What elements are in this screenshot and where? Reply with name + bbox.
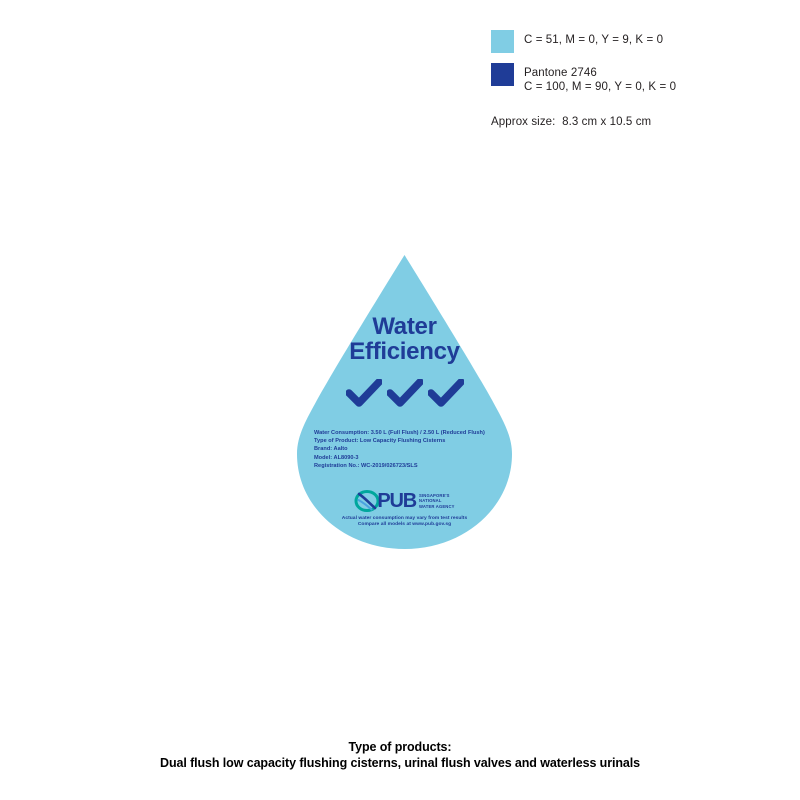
disclaimer-line2: Compare all models at www.pub.gov.sg (296, 522, 513, 528)
checkmark-icon-3 (428, 379, 464, 407)
label-heading: Water Efficiency (296, 314, 513, 364)
colour-legend: C = 51, M = 0, Y = 9, K = 0 Pantone 2746… (491, 30, 781, 104)
label-heading-line1: Water (372, 313, 436, 340)
legend-row-light-blue: C = 51, M = 0, Y = 9, K = 0 (491, 30, 781, 53)
dark-blue-swatch (491, 63, 514, 86)
info-line-water-consumption: Water Consumption: 3.50 L (Full Flush) /… (314, 429, 499, 437)
pub-tagline: SINGAPORE'S NATIONAL WATER AGENCY (419, 493, 455, 508)
dark-blue-cmyk-value: C = 100, M = 90, Y = 0, K = 0 (524, 80, 676, 94)
dark-blue-pantone-name: Pantone 2746 (524, 66, 676, 80)
approx-size-text: Approx size: 8.3 cm x 10.5 cm (491, 116, 651, 128)
bottom-caption: Type of products: Dual flush low capacit… (0, 739, 800, 771)
label-heading-line2: Efficiency (296, 339, 513, 364)
info-line-model: Model: AL8090-3 (314, 454, 499, 462)
pub-logo: PUB SINGAPORE'S NATIONAL WATER AGENCY (296, 490, 513, 512)
legend-text-light-blue: C = 51, M = 0, Y = 9, K = 0 (524, 30, 663, 47)
checkmark-icon-1 (346, 379, 382, 407)
legend-text-dark-blue: Pantone 2746 C = 100, M = 90, Y = 0, K =… (524, 63, 676, 94)
disclaimer-text: Actual water consumption may vary from t… (296, 516, 513, 529)
info-line-brand: Brand: Aalto (314, 445, 499, 453)
light-blue-cmyk-value: C = 51, M = 0, Y = 9, K = 0 (524, 33, 663, 47)
caption-line1: Type of products: (0, 739, 800, 755)
product-info-block: Water Consumption: 3.50 L (Full Flush) /… (314, 429, 499, 470)
legend-row-dark-blue: Pantone 2746 C = 100, M = 90, Y = 0, K =… (491, 63, 781, 94)
light-blue-swatch (491, 30, 514, 53)
pub-tagline-line3: WATER AGENCY (419, 504, 455, 509)
caption-line2: Dual flush low capacity flushing cistern… (0, 755, 800, 771)
info-line-type-of-product: Type of Product: Low Capacity Flushing C… (314, 437, 499, 445)
info-line-registration-no: Registration No.: WC-2019/026723/SLS (314, 462, 499, 470)
tick-rating-row (296, 379, 513, 407)
water-efficiency-label: Water Efficiency Water Consumption: 3.50… (296, 254, 513, 550)
pub-wordmark: PUB (377, 491, 416, 511)
checkmark-icon-2 (387, 379, 423, 407)
